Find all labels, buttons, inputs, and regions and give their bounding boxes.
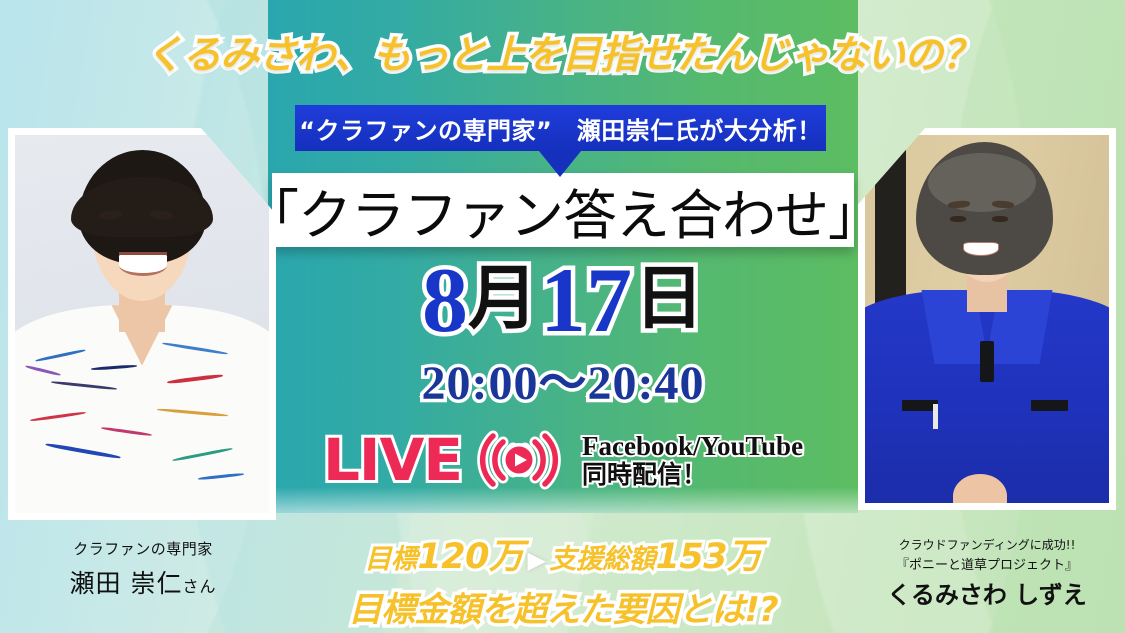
speaker-photo-right bbox=[858, 128, 1116, 510]
caption-left-role: クラファンの専門家 bbox=[18, 538, 268, 559]
caption-right: クラウドファンディングに成功!! 『ポニーと道草プロジェクト』 くるみさわ しず… bbox=[862, 536, 1112, 610]
funding-amounts-line: 目標120万▶支援総額153万 bbox=[268, 528, 858, 579]
ribbon-tail-icon bbox=[539, 151, 581, 177]
caption-left-name-suffix: さん bbox=[182, 577, 216, 596]
event-time: 20:00〜20:40 bbox=[268, 352, 858, 404]
goal-amount: 120万 bbox=[417, 537, 523, 577]
live-streaming-row: LIVE Facebook/YouTube bbox=[268, 420, 858, 500]
arrow-right-icon: ▶ bbox=[528, 546, 546, 574]
funding-summary: 目標120万▶支援総額153万 目標金額を超えた要因とは!? bbox=[268, 528, 858, 631]
event-time-text: 20:00〜20:40 bbox=[422, 343, 705, 413]
live-label: LIVE bbox=[323, 431, 462, 489]
expert-ribbon: “クラファンの専門家” 瀬田崇仁氏が大分析！ bbox=[295, 105, 826, 151]
broadcast-waves-icon bbox=[470, 430, 568, 490]
caption-right-name: くるみさわ しずえ bbox=[862, 575, 1112, 610]
caption-left: クラファンの専門家 瀬田 崇仁さん bbox=[18, 538, 268, 600]
date-day-kanji: 日 bbox=[634, 265, 704, 335]
caption-right-line2: 『ポニーと道草プロジェクト』 bbox=[862, 554, 1112, 573]
top-headline: くるみさわ、もっと上を目指せたんじゃないの？ bbox=[0, 24, 1125, 80]
date-month-kanji: 月 bbox=[468, 265, 538, 335]
caption-left-name: 瀬田 崇仁さん bbox=[18, 564, 268, 600]
funding-question: 目標金額を超えた要因とは!? bbox=[268, 582, 858, 631]
program-title-band: 「クラファン答え合わせ」 bbox=[272, 173, 854, 247]
caption-left-name-text: 瀬田 崇仁 bbox=[70, 569, 183, 598]
total-label: 支援総額 bbox=[549, 544, 655, 575]
speaker-photo-left bbox=[8, 128, 276, 520]
promo-banner: くるみさわ、もっと上を目指せたんじゃないの？ “クラファンの専門家” 瀬田崇仁氏… bbox=[0, 0, 1125, 633]
caption-right-line1: クラウドファンディングに成功!! bbox=[862, 536, 1112, 553]
goal-label: 目標 bbox=[364, 544, 417, 575]
streaming-platforms: Facebook/YouTube bbox=[582, 431, 803, 461]
total-amount: 153万 bbox=[655, 537, 761, 577]
date-day-number: 17 bbox=[540, 254, 632, 346]
streaming-services: Facebook/YouTube 同時配信！ bbox=[582, 431, 803, 489]
simulcast-note: 同時配信！ bbox=[582, 461, 803, 489]
event-date: 8 月 17 日 bbox=[268, 252, 858, 348]
page-title: 「クラファン答え合わせ」 bbox=[245, 171, 881, 250]
expert-ribbon-text: “クラファンの専門家” 瀬田崇仁氏が大分析！ bbox=[299, 111, 822, 146]
date-month-number: 8 bbox=[422, 254, 468, 346]
